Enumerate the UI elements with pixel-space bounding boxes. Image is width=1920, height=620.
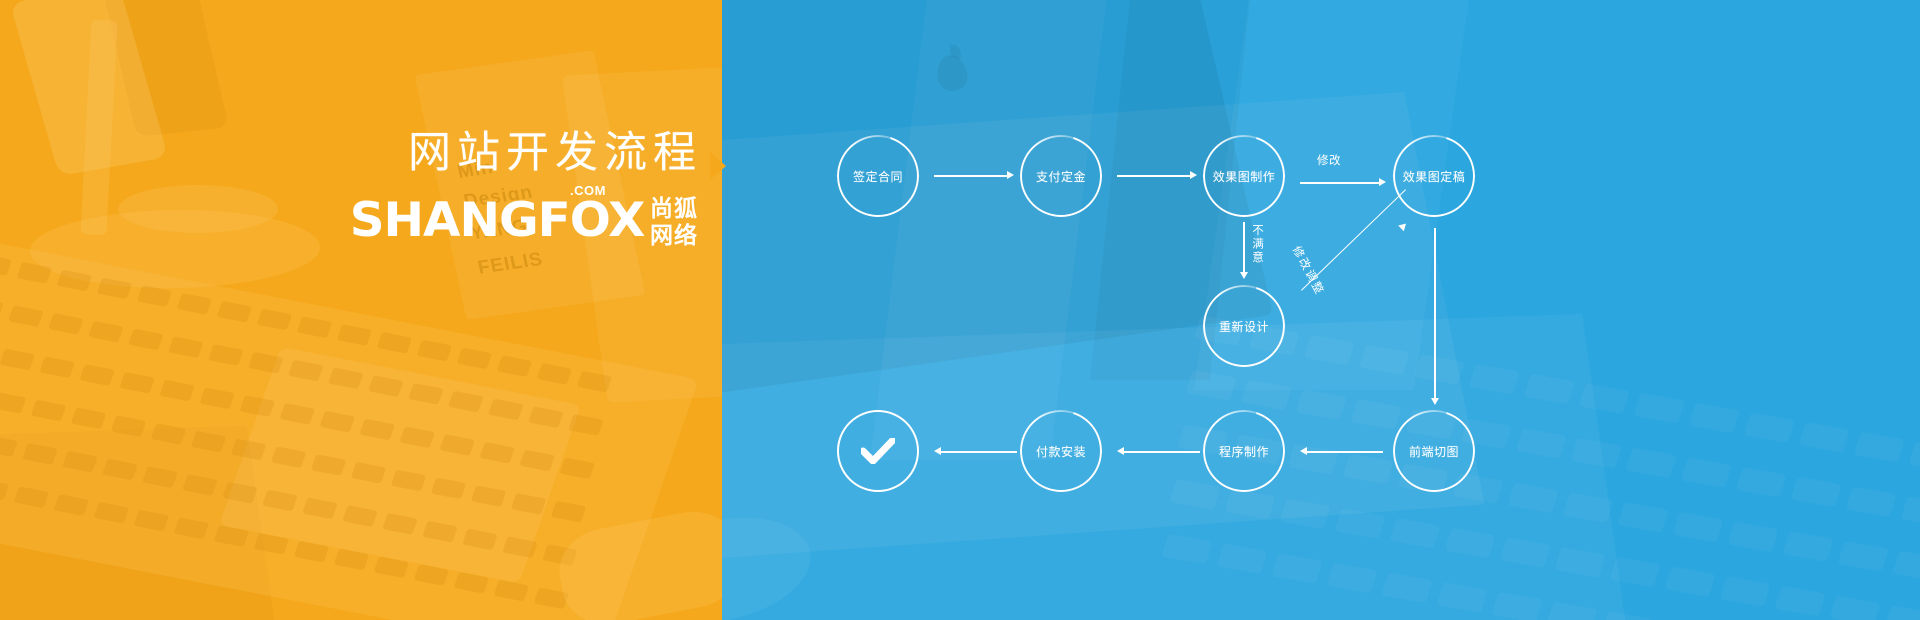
node-label: 效果图制作 [1213,168,1276,185]
node-label: 程序制作 [1219,443,1269,460]
flow-node-program-production[interactable]: 程序制作 [1203,410,1285,492]
node-label: 重新设计 [1219,318,1269,335]
flow-node-mockup-final[interactable]: 效果图定稿 [1393,135,1475,217]
node-label: 签定合同 [853,168,903,185]
connector-3-5 [1243,222,1245,276]
arrowhead-7-8 [1117,447,1124,455]
arrowhead-3-5 [1240,272,1248,279]
workflow-diagram: 签定合同 支付定金 效果图制作 效果图定稿 修改 重新设计 不满意 修改调整 前… [0,0,1920,620]
connector-6-7 [1307,451,1383,453]
node-label: 支付定金 [1036,168,1086,185]
edge-label-unsatisfied: 不满意 [1250,224,1266,265]
connector-4-6 [1434,228,1436,403]
edge-label-modify: 修改 [1317,152,1341,168]
connector-3-4 [1300,182,1382,184]
flow-node-payment-install[interactable]: 付款安装 [1020,410,1102,492]
arrowhead-4-6 [1431,398,1439,405]
connector-7-8 [1124,451,1200,453]
flow-node-pay-deposit[interactable]: 支付定金 [1020,135,1102,217]
flow-node-sign-contract[interactable]: 签定合同 [837,135,919,217]
connector-1-2 [934,175,1010,177]
flow-node-frontend-slicing[interactable]: 前端切图 [1393,410,1475,492]
arrowhead-8-9 [934,447,941,455]
flow-node-complete[interactable] [837,410,919,492]
node-label: 效果图定稿 [1403,168,1466,185]
arrowhead-2-3 [1190,171,1197,179]
connector-2-3 [1117,175,1193,177]
node-label: 前端切图 [1409,443,1459,460]
flow-node-mockup-production[interactable]: 效果图制作 [1203,135,1285,217]
check-icon [861,438,895,464]
arrowhead-3-4 [1379,178,1386,186]
node-label: 付款安装 [1036,443,1086,460]
arrowhead-5-4 [1398,221,1409,232]
arrowhead-6-7 [1300,447,1307,455]
flow-node-redesign[interactable]: 重新设计 [1203,285,1285,367]
arrowhead-1-2 [1007,171,1014,179]
connector-8-9 [941,451,1017,453]
